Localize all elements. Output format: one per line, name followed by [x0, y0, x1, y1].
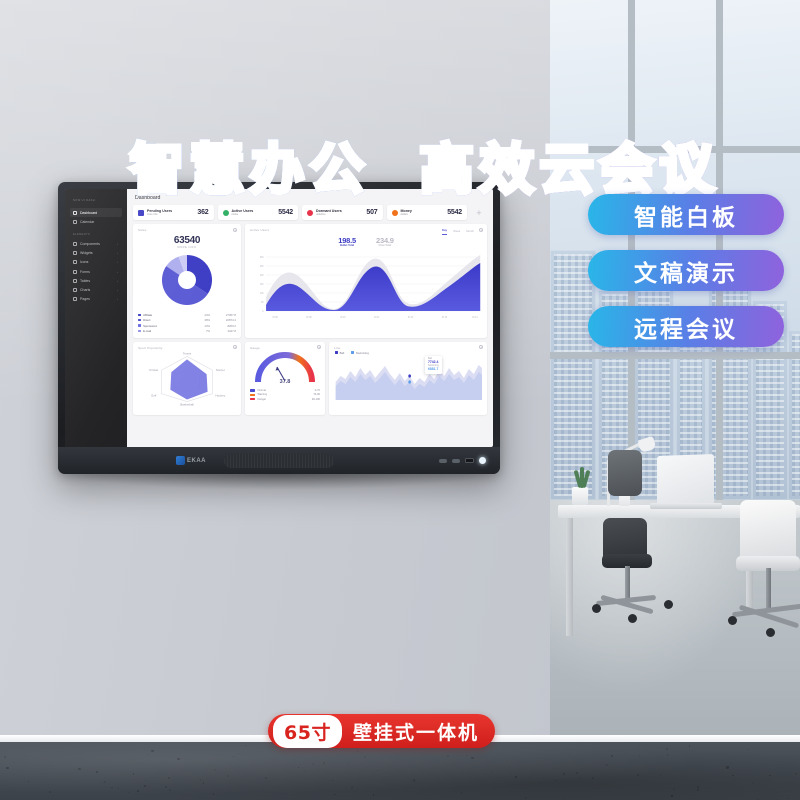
floor-speck: [466, 755, 467, 756]
display-bezel: EKAA: [58, 447, 500, 474]
tooltip-value: 6881.7: [428, 367, 439, 371]
floor-speck: [540, 782, 541, 783]
floor-speck: [332, 780, 333, 781]
floor-speck: [111, 787, 113, 789]
legend-value: 4447.8: [210, 329, 236, 333]
floor-speck: [563, 773, 565, 775]
svg-text:07-11: 07-11: [374, 316, 380, 318]
legend-value: 22874.4: [210, 318, 236, 322]
floor-speck: [563, 798, 564, 799]
svg-text:07-13: 07-13: [442, 316, 448, 318]
floor-speck: [667, 754, 669, 756]
chat-icon: [223, 210, 229, 216]
size-description: 壁挂式一体机: [353, 718, 479, 745]
legend-swatch: [250, 398, 255, 401]
floor-speck: [298, 767, 299, 768]
sidebar-item-label: Components: [80, 242, 100, 246]
dashboard-sidebar: NOW UI DASH Dashboard Calendar ELEMENTS …: [65, 189, 127, 447]
charts-row-1: Sales 63540 MORE INFO: [133, 224, 487, 338]
floor-speck: [148, 754, 149, 755]
svg-text:100: 100: [260, 292, 264, 294]
plant-pot: [572, 487, 588, 505]
floor-speck: [673, 788, 675, 790]
legend-label: Swimming: [356, 351, 369, 355]
kpi-card-active-users[interactable]: Active Users online 5542: [218, 205, 299, 220]
badge-label: 远程会议: [634, 310, 738, 344]
size-value: 65寸: [273, 715, 342, 748]
svg-text:50: 50: [261, 301, 264, 303]
chart-tooltip: Ball 7742.4 Swimming 6881.7: [425, 356, 442, 374]
kpi-value: 5542: [447, 209, 462, 216]
floor-speck: [49, 791, 51, 793]
dashboard-main: Dashboard Pending Users more info 362: [127, 189, 493, 447]
floor-speck: [726, 766, 728, 768]
legend-percent: 38%: [194, 318, 210, 322]
floor-speck: [752, 782, 754, 784]
tab-month[interactable]: Month: [466, 229, 474, 234]
size-badge: 65寸 壁挂式一体机: [268, 714, 495, 748]
floor-speck: [461, 792, 462, 793]
floor-speck: [96, 771, 98, 773]
legend-range: 90-100: [312, 398, 320, 401]
chart-icon: [73, 288, 77, 292]
floor-speck: [200, 779, 202, 781]
svg-text:250: 250: [260, 265, 264, 267]
floor-speck: [354, 791, 355, 792]
floor-speck: [151, 750, 153, 752]
floor-speck: [689, 745, 690, 746]
floor-speck: [128, 792, 130, 794]
sidebar-item-charts[interactable]: Charts ›: [70, 285, 122, 294]
sport-popularity-card: Sport Popularity Tennis Soccer Hockey Ba…: [133, 342, 241, 415]
sidebar-item-calendar[interactable]: Calendar: [70, 217, 122, 226]
svg-text:Soccer: Soccer: [216, 368, 225, 372]
floor-speck: [795, 773, 797, 775]
floor-speck: [471, 757, 473, 759]
floor-speck: [732, 775, 734, 777]
legend-percent: 7%: [194, 329, 210, 333]
power-led-icon[interactable]: [479, 457, 486, 464]
legend-swatch: [335, 351, 338, 354]
floor-speck: [376, 787, 378, 789]
floor-speck: [697, 786, 699, 788]
legend-label: Danger: [258, 398, 312, 401]
kpi-value: 507: [366, 209, 377, 216]
svg-text:Hockey: Hockey: [215, 393, 225, 397]
legend-label: Direct: [143, 318, 194, 322]
chair-post: [625, 566, 630, 600]
legend-label: Warning: [258, 393, 314, 396]
gear-icon[interactable]: [233, 228, 237, 232]
floor-speck: [509, 791, 511, 793]
legend-label: Normal: [258, 389, 315, 392]
svg-text:07-10: 07-10: [340, 316, 346, 318]
badge-label: 智能白板: [634, 198, 738, 232]
floor-speck: [364, 756, 366, 758]
sales-legend: Affiliate 44% 27957.8 Direct 38% 22874.4: [138, 312, 236, 334]
tab-day[interactable]: Day: [442, 228, 447, 234]
flow-total-label: Flow Total: [376, 244, 394, 247]
widget-icon: [73, 251, 77, 255]
floor-speck: [780, 778, 781, 779]
legend-item: Affiliate 44% 27957.8: [138, 312, 236, 317]
sidebar-item-forms[interactable]: Forms ›: [70, 267, 122, 276]
sidebar-item-pages[interactable]: Pages ›: [70, 295, 122, 304]
charts-row-2: Sport Popularity Tennis Soccer Hockey Ba…: [133, 342, 487, 415]
legend-item: Danger 90-100: [250, 397, 320, 401]
brand-mark-icon: [176, 456, 185, 465]
port-oval-icon[interactable]: [452, 459, 460, 463]
gear-icon[interactable]: [317, 345, 321, 349]
chevron-right-icon: ›: [117, 288, 118, 292]
floor-speck: [213, 793, 215, 795]
floor-speck: [606, 764, 608, 766]
floor-speck: [579, 777, 581, 779]
floor-speck: [323, 762, 325, 764]
card-title: Sales: [138, 228, 236, 232]
floor-speck: [637, 774, 639, 776]
svg-text:300: 300: [260, 256, 264, 258]
sales-donut-card: Sales 63540 MORE INFO: [133, 224, 241, 338]
chair-caster: [728, 616, 737, 625]
laptop-base: [650, 503, 722, 509]
legend-swatch: [138, 324, 141, 327]
floor-speck: [555, 780, 557, 782]
desk-leg: [566, 518, 573, 636]
floor-speck: [532, 796, 533, 797]
legend-item: Warning 70-90: [250, 393, 320, 397]
floor-speck: [6, 767, 8, 769]
svg-text:07-12: 07-12: [408, 316, 414, 318]
legend-label: E-mail: [143, 329, 194, 333]
donut-svg: [158, 251, 216, 309]
legend-value: 8260.2: [210, 324, 236, 328]
chevron-right-icon: ›: [117, 260, 118, 264]
feature-badge-conference: 远程会议: [588, 306, 784, 347]
kpi-value: 362: [197, 209, 208, 216]
svg-text:Cricket: Cricket: [149, 368, 158, 372]
sidebar-item-components[interactable]: Components ›: [70, 239, 122, 248]
floor-speck: [305, 771, 306, 772]
card-title: Line: [334, 346, 482, 350]
floor-speck: [748, 749, 749, 750]
poster-headline: 智慧办公 高效云会议: [0, 62, 800, 204]
laptop-screen: [657, 454, 714, 508]
chart-range-tabs: Day Week Month: [442, 228, 474, 234]
legend-label: Ball: [340, 351, 345, 355]
legend-label: Affiliate: [143, 313, 194, 317]
svg-text:07-14: 07-14: [472, 316, 478, 318]
kpi-sublabel: undefine: [316, 213, 342, 216]
sidebar-item-label: Charts: [80, 288, 90, 292]
page-icon: [73, 297, 77, 301]
floor-speck: [227, 775, 229, 777]
square-icon: [138, 210, 144, 216]
line-chart-card: Line Ball Swimming Ball: [329, 342, 487, 415]
floor-speck: [351, 786, 353, 788]
calendar-icon: [73, 220, 77, 224]
legend-item: Direct 38% 22874.4: [138, 318, 236, 323]
floor-speck: [233, 756, 234, 757]
legend-swatch: [250, 394, 255, 397]
chair-back: [608, 450, 642, 496]
kpi-value: 5542: [278, 209, 293, 216]
form-icon: [73, 270, 77, 274]
legend-item: Ball: [335, 351, 344, 355]
chair-caster: [766, 628, 775, 637]
headline-text: 智慧办公 高效云会议: [130, 138, 720, 201]
legend-swatch: [138, 314, 141, 317]
floor-speck: [373, 794, 374, 795]
gear-icon[interactable]: [233, 345, 237, 349]
kpi-row: Pending Users more info 362 Active Users…: [133, 205, 487, 220]
tooltip-value: 7742.4: [428, 360, 439, 364]
round-icon: [392, 210, 398, 216]
floor-speck: [4, 756, 6, 758]
floor-speck: [165, 786, 167, 788]
kpi-card-pending-users[interactable]: Pending Users more info 362: [133, 205, 214, 220]
tab-week[interactable]: Week: [453, 229, 460, 234]
chevron-right-icon: ›: [117, 279, 118, 283]
sidebar-item-widgets[interactable]: Widgets ›: [70, 249, 122, 258]
floor-speck: [177, 758, 179, 760]
chevron-right-icon: ›: [117, 270, 118, 274]
legend-swatch: [138, 319, 141, 322]
chair-caster: [592, 604, 601, 613]
sidebar-item-icons[interactable]: Icons ›: [70, 258, 122, 267]
sidebar-item-tables[interactable]: Tables ›: [70, 276, 122, 285]
floor-speck: [312, 763, 314, 765]
svg-text:Basketball: Basketball: [180, 402, 194, 406]
kpi-sublabel: more info: [147, 213, 172, 216]
brand-logo: EKAA: [176, 456, 206, 465]
chevron-right-icon: ›: [117, 251, 118, 255]
sales-subtitle: MORE INFO: [138, 246, 236, 249]
grid-icon: [73, 242, 77, 246]
star-icon: [73, 260, 77, 264]
floor-speck: [377, 770, 378, 771]
floor-speck: [697, 789, 699, 791]
floor-speck: [118, 787, 119, 788]
card-title: Active Users: [250, 228, 269, 232]
legend-swatch: [138, 330, 141, 333]
floor-speck: [357, 751, 358, 752]
chair-caster: [628, 614, 637, 623]
svg-text:Golf: Golf: [151, 393, 157, 397]
line-chart-svg: [334, 356, 482, 400]
floor-speck: [413, 779, 415, 781]
floor-speck: [447, 755, 449, 757]
floor-speck: [666, 748, 668, 750]
active-users-card: Active Users Day Week Month 198.5 Bullet…: [245, 224, 487, 338]
feature-badge-whiteboard: 智能白板: [588, 194, 784, 235]
floor-speck: [525, 797, 527, 799]
floor-speck: [137, 790, 138, 791]
floor-speck: [639, 755, 640, 756]
chair-back: [740, 500, 796, 562]
chevron-right-icon: ›: [117, 242, 118, 246]
port-oval-icon[interactable]: [439, 459, 447, 463]
legend-value: 27957.8: [210, 313, 236, 317]
sidebar-section-label: ELEMENTS: [73, 233, 122, 236]
floor-speck: [265, 777, 267, 779]
legend-percent: 13%: [194, 324, 210, 328]
svg-text:07-08: 07-08: [272, 316, 278, 318]
svg-text:07-09: 07-09: [306, 316, 312, 318]
sidebar-item-label: Icons: [80, 260, 88, 264]
kpi-card-dormant-users[interactable]: Dormant Users undefine 507: [302, 205, 383, 220]
chevron-right-icon: ›: [117, 297, 118, 301]
sidebar-item-label: Forms: [80, 270, 90, 274]
sidebar-item-label: Tables: [80, 279, 90, 283]
heart-icon: [307, 210, 313, 216]
home-icon: [73, 211, 77, 215]
display-screen: NOW UI DASH Dashboard Calendar ELEMENTS …: [65, 189, 493, 447]
floor-speck: [671, 795, 673, 797]
area-totals: 198.5 Bullet Total 234.9 Flow Total: [250, 236, 482, 247]
svg-text:200: 200: [260, 274, 264, 276]
floor-speck: [576, 772, 578, 774]
floor-speck: [515, 776, 517, 778]
table-icon: [73, 279, 77, 283]
svg-text:Tennis: Tennis: [183, 351, 192, 355]
floor-speck: [145, 780, 146, 781]
area-chart-svg: 300250 200150 10050 0 07-0807-09 07-1007…: [250, 249, 482, 319]
floor-speck: [28, 781, 29, 782]
sidebar-item-label: Calendar: [80, 220, 94, 224]
sidebar-item-label: Pages: [80, 297, 90, 301]
floor-speck: [765, 785, 766, 786]
floor-speck: [168, 777, 170, 779]
floor-speck: [654, 773, 655, 774]
gauge-legend: Normal 0-70 Warning 70-90 Danger 90-100: [250, 389, 320, 402]
interactive-display: NOW UI DASH Dashboard Calendar ELEMENTS …: [58, 182, 500, 474]
speaker-grille: [224, 454, 334, 468]
svg-text:0: 0: [262, 310, 264, 312]
floor-speck: [592, 777, 594, 779]
chair-post: [766, 568, 771, 610]
legend-range: 70-90: [313, 393, 320, 396]
feature-badge-presentation: 文稿演示: [588, 250, 784, 291]
gauge-card: Gauge: [245, 342, 325, 415]
floor-speck: [144, 785, 146, 787]
floor-speck: [334, 794, 335, 795]
sales-total: 63540: [138, 235, 236, 246]
floor-speck: [769, 775, 771, 777]
floor-speck: [447, 798, 448, 799]
legend-item: Swimming: [351, 351, 369, 355]
floor: [0, 742, 800, 800]
kpi-card-money[interactable]: Money dollars 5542: [387, 205, 468, 220]
floor-speck: [133, 773, 135, 775]
floor-speck: [169, 789, 171, 791]
badge-label: 文稿演示: [634, 254, 738, 288]
legend-item: Sponsored 13% 8260.2: [138, 323, 236, 328]
svg-text:150: 150: [260, 283, 264, 285]
gear-icon[interactable]: [479, 228, 483, 232]
legend-range: 0-70: [315, 389, 320, 392]
floor-speck: [660, 775, 661, 776]
floor-speck: [491, 771, 492, 772]
kpi-sublabel: dollars: [401, 213, 412, 216]
floor-speck: [104, 781, 106, 783]
donut-chart: [138, 251, 236, 309]
chair-caster: [664, 600, 673, 609]
floor-speck: [203, 782, 204, 783]
legend-swatch: [351, 351, 354, 354]
legend-item: E-mail 7% 4447.8: [138, 328, 236, 333]
legend-swatch: [250, 389, 255, 392]
floor-speck: [788, 798, 789, 799]
feature-badge-list: 智能白板 文稿演示 远程会议: [588, 194, 784, 362]
floor-speck: [13, 762, 14, 763]
line-legend: Ball Swimming: [335, 351, 482, 355]
usb-port-icon[interactable]: [465, 458, 474, 463]
add-card-button[interactable]: +: [471, 205, 487, 220]
kpi-sublabel: online: [232, 213, 254, 216]
floor-speck: [245, 745, 246, 746]
bullet-total-label: Bullet Total: [338, 244, 356, 247]
radar-chart-svg: Tennis Soccer Hockey Basketball Golf Cri…: [138, 350, 236, 406]
sidebar-item-label: Widgets: [80, 251, 93, 255]
floor-speck: [509, 767, 510, 768]
sidebar-item-label: Dashboard: [80, 211, 97, 215]
brand-name: EKAA: [187, 458, 206, 464]
floor-speck: [78, 768, 80, 770]
floor-speck: [214, 769, 216, 771]
gear-icon[interactable]: [479, 345, 483, 349]
legend-percent: 44%: [194, 313, 210, 317]
bezel-controls: [439, 457, 486, 464]
floor-speck: [611, 755, 613, 757]
legend-label: Sponsored: [143, 324, 194, 328]
floor-speck: [348, 763, 349, 764]
tv-shadow: [68, 474, 490, 490]
sidebar-item-dashboard[interactable]: Dashboard: [70, 208, 122, 217]
